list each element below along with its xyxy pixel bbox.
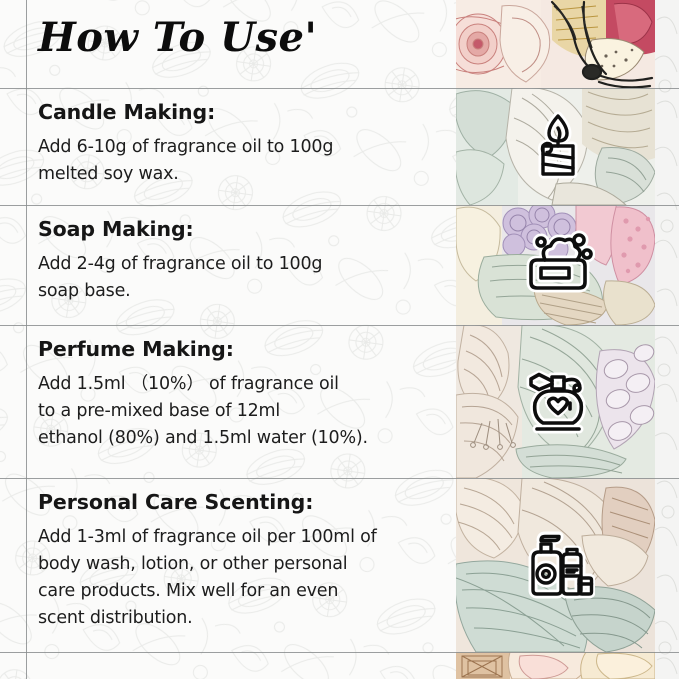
section-heading-soap-making: Soap Making: [38,217,438,241]
body-line: Add 6-10g of fragrance oil to 100g [38,134,438,161]
section-body-perfume-making: Add 1.5ml （10%） of fragrance oil to a pr… [38,371,438,452]
bottom-band [456,652,655,679]
body-line: Add 2-4g of fragrance oil to 100g [38,251,438,278]
lotion-bottle-icon [521,528,595,602]
divider-after-soap [0,325,679,326]
body-line: care products. Mix well for an even [38,578,438,605]
section-candle-making: Candle Making: Add 6-10g of fragrance oi… [38,100,438,188]
body-line: to a pre-mixed base of 12ml [38,398,438,425]
right-margin-strip [655,0,679,679]
roses-band [456,0,655,88]
section-heading-personal-care-scenting: Personal Care Scenting: [38,490,438,514]
how-to-use-infographic: How To Use' Candle Making: Add 6-10g of … [0,0,679,679]
divider-after-perfume [0,478,679,479]
divider-after-personal-care [0,652,679,653]
body-line: scent distribution. [38,605,438,632]
section-body-personal-care-scenting: Add 1-3ml of fragrance oil per 100ml of … [38,524,438,632]
body-line: Add 1-3ml of fragrance oil per 100ml of [38,524,438,551]
section-heading-perfume-making: Perfume Making: [38,337,438,361]
section-personal-care-scenting: Personal Care Scenting: Add 1-3ml of fra… [38,490,438,632]
body-line: melted soy wax. [38,161,438,188]
divider-after-candle [0,205,679,206]
body-line: soap base. [38,278,438,305]
body-line: body wash, lotion, or other personal [38,551,438,578]
body-line: Add 1.5ml （10%） of fragrance oil [38,371,438,398]
body-line: ethanol (80%) and 1.5ml water (10%). [38,425,438,452]
section-perfume-making: Perfume Making: Add 1.5ml （10%） of fragr… [38,337,438,452]
section-body-candle-making: Add 6-10g of fragrance oil to 100g melte… [38,134,438,188]
candle-icon [521,108,595,182]
left-margin-vertical-rule [26,0,27,679]
perfume-bottle-icon [521,363,595,437]
page-title: How To Use' [38,14,317,61]
section-soap-making: Soap Making: Add 2-4g of fragrance oil t… [38,217,438,305]
section-body-soap-making: Add 2-4g of fragrance oil to 100g soap b… [38,251,438,305]
divider-after-title [0,88,679,89]
section-heading-candle-making: Candle Making: [38,100,438,124]
soap-bar-icon [521,226,595,300]
